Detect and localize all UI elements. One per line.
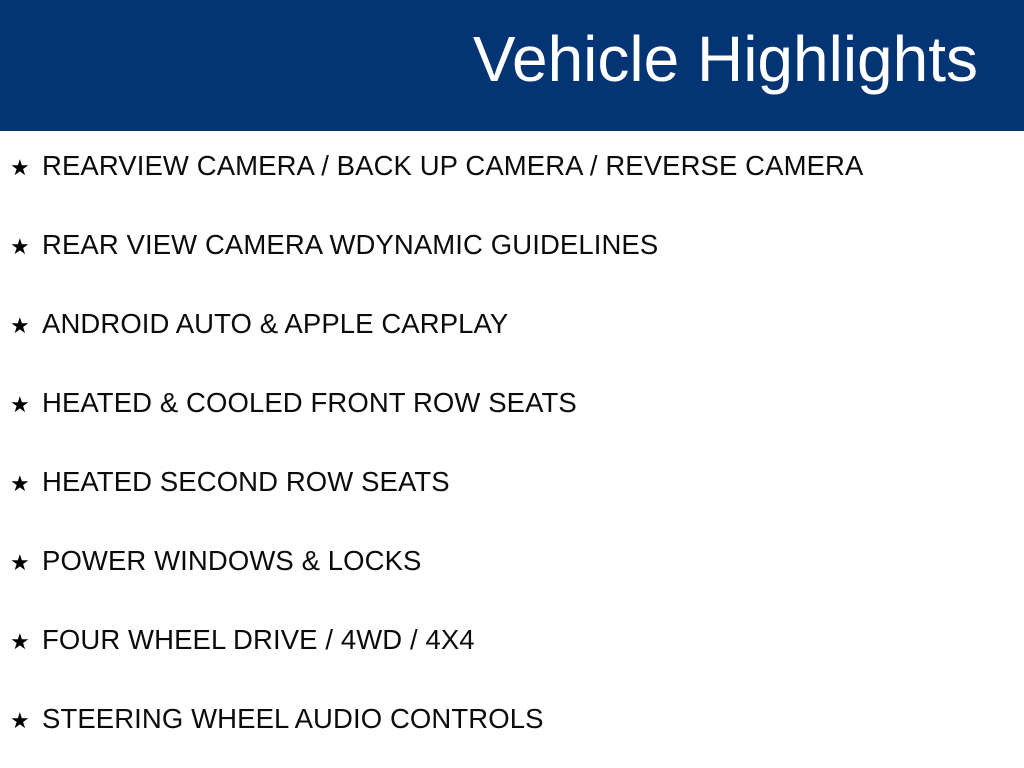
list-item-label: ANDROID AUTO & APPLE CARPLAY [42,310,508,338]
list-item: ★ HEATED SECOND ROW SEATS [0,468,1024,547]
page-title: Vehicle Highlights [473,27,978,91]
vehicle-highlights-list: ★ REARVIEW CAMERA / BACK UP CAMERA / REV… [0,131,1024,768]
list-item-label: STEERING WHEEL AUDIO CONTROLS [42,705,544,733]
star-icon: ★ [10,158,42,180]
vehicle-highlights-slide: Vehicle Highlights ★ REARVIEW CAMERA / B… [0,0,1024,768]
list-item-label: FOUR WHEEL DRIVE / 4WD / 4X4 [42,626,475,654]
star-icon: ★ [10,316,42,338]
star-icon: ★ [10,632,42,654]
list-item: ★ POWER WINDOWS & LOCKS [0,547,1024,626]
list-item: ★ REAR VIEW CAMERA WDYNAMIC GUIDELINES [0,231,1024,310]
list-item-label: HEATED & COOLED FRONT ROW SEATS [42,389,577,417]
list-item: ★ FOUR WHEEL DRIVE / 4WD / 4X4 [0,626,1024,705]
star-icon: ★ [10,711,42,733]
star-icon: ★ [10,237,42,259]
list-item-label: REAR VIEW CAMERA WDYNAMIC GUIDELINES [42,231,658,259]
star-icon: ★ [10,474,42,496]
list-item: ★ REARVIEW CAMERA / BACK UP CAMERA / REV… [0,152,1024,231]
list-item-label: REARVIEW CAMERA / BACK UP CAMERA / REVER… [42,152,863,180]
star-icon: ★ [10,553,42,575]
star-icon: ★ [10,395,42,417]
list-item: ★ STEERING WHEEL AUDIO CONTROLS [0,705,1024,768]
list-item-label: POWER WINDOWS & LOCKS [42,547,422,575]
list-item: ★ ANDROID AUTO & APPLE CARPLAY [0,310,1024,389]
list-item-label: HEATED SECOND ROW SEATS [42,468,450,496]
list-item: ★ HEATED & COOLED FRONT ROW SEATS [0,389,1024,468]
header-banner: Vehicle Highlights [0,0,1024,131]
